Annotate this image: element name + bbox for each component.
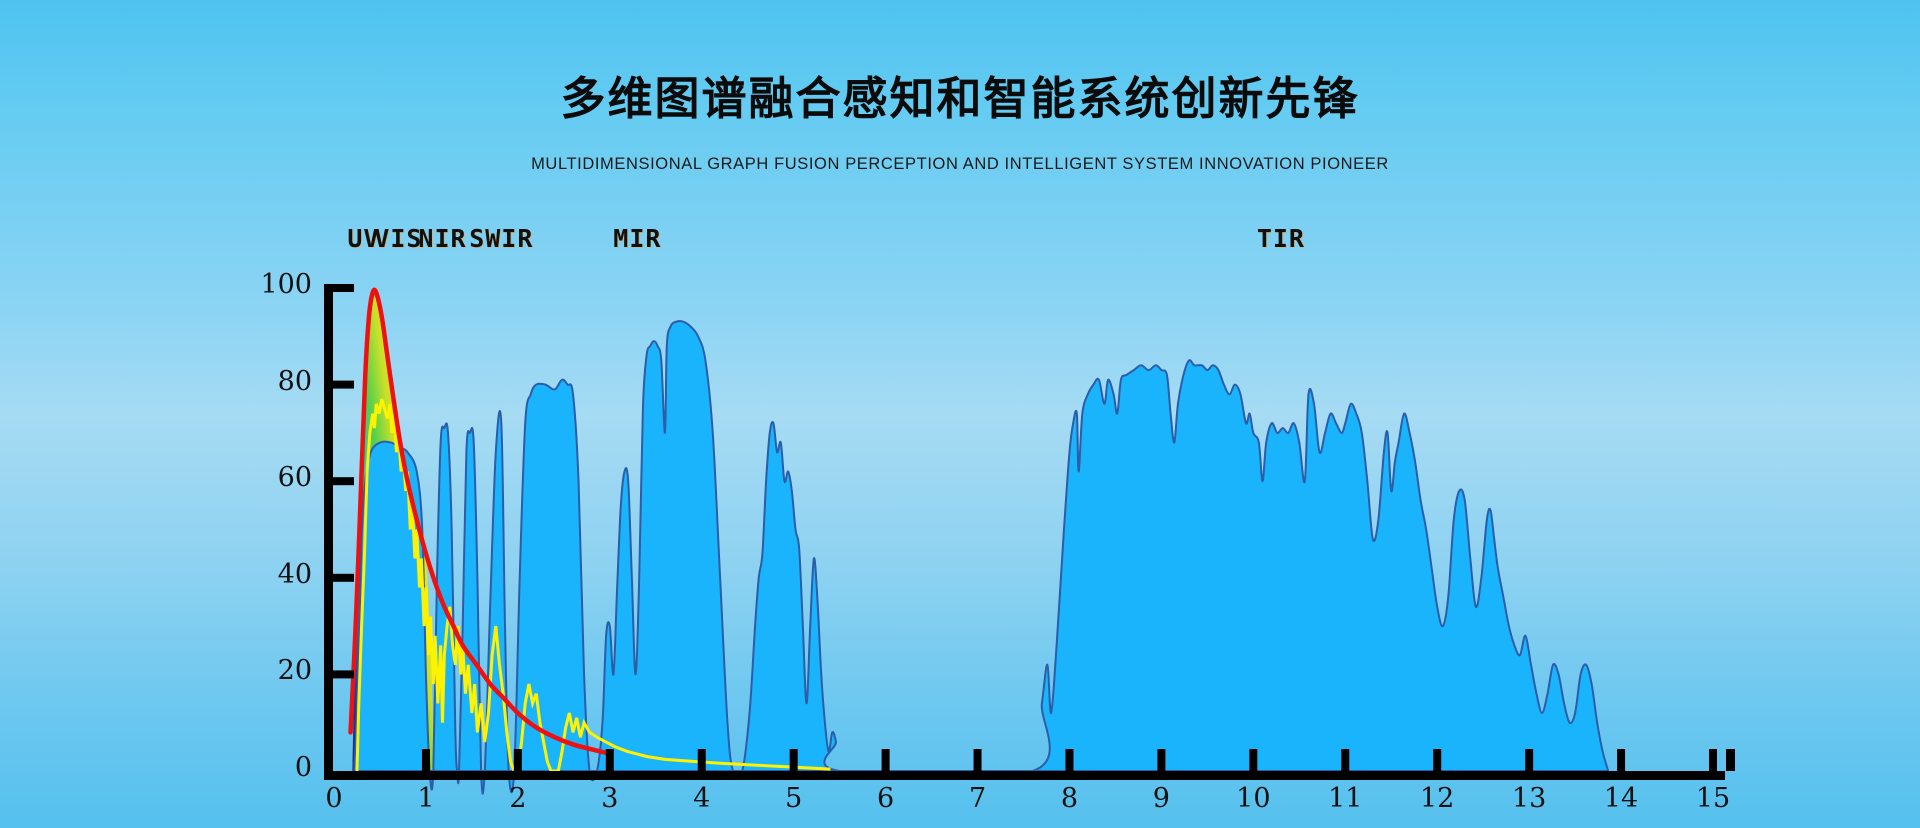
y-tick-0: 0 <box>242 752 312 783</box>
y-tick-40: 40 <box>242 559 312 590</box>
y-tick-80: 80 <box>242 366 312 397</box>
x-tick-10: 10 <box>1223 783 1283 814</box>
poster-root: 多维图谱融合感知和智能系统创新先锋 MULTIDIMENSIONAL GRAPH… <box>0 0 1920 828</box>
x-tick-2: 2 <box>488 783 548 814</box>
transmission-area <box>354 321 1608 793</box>
y-tick-100: 100 <box>242 269 312 300</box>
x-tick-6: 6 <box>856 783 916 814</box>
x-tick-4: 4 <box>672 783 732 814</box>
x-tick-1: 1 <box>396 783 456 814</box>
x-tick-8: 8 <box>1039 783 1099 814</box>
spectrum-chart <box>0 0 1920 828</box>
y-tick-60: 60 <box>242 462 312 493</box>
x-tick-0: 0 <box>304 783 364 814</box>
x-tick-7: 7 <box>948 783 1008 814</box>
x-tick-14: 14 <box>1591 783 1651 814</box>
x-tick-3: 3 <box>580 783 640 814</box>
x-tick-13: 13 <box>1499 783 1559 814</box>
x-tick-12: 12 <box>1407 783 1467 814</box>
x-tick-9: 9 <box>1131 783 1191 814</box>
x-tick-5: 5 <box>764 783 824 814</box>
x-tick-11: 11 <box>1315 783 1375 814</box>
x-tick-15: 15 <box>1683 783 1743 814</box>
y-tick-20: 20 <box>242 655 312 686</box>
